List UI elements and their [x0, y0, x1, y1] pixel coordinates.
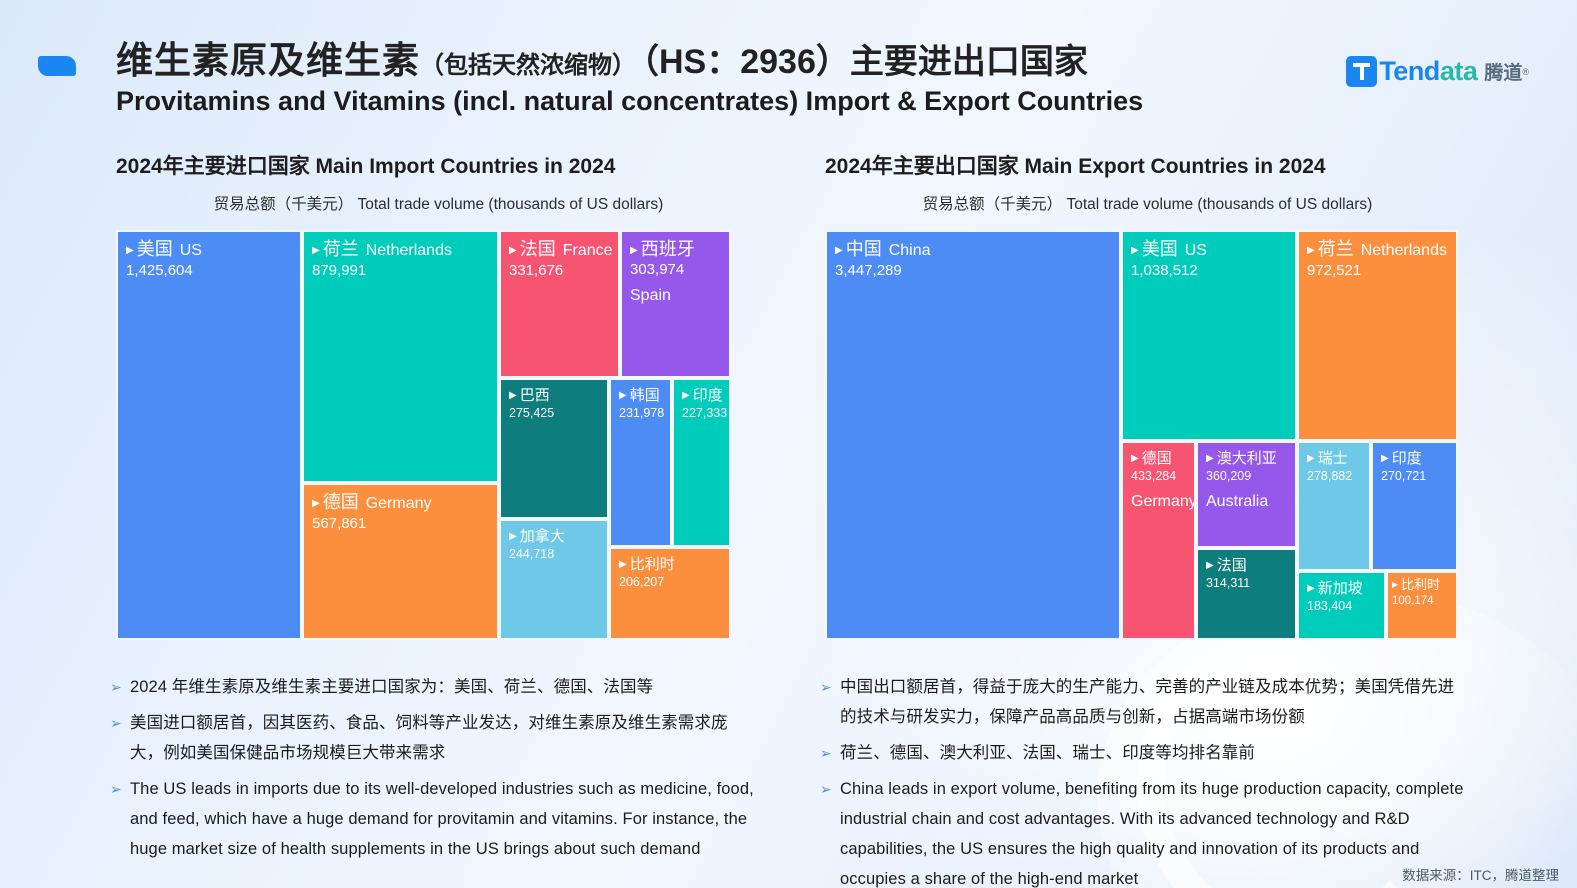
export-notes-list: ➢中国出口额居首，得益于庞大的生产能力、完善的产业链及成本优势；美国凭借先进的技…	[820, 672, 1470, 888]
tile-value: 1,425,604	[126, 263, 293, 280]
tile-value: 231,978	[619, 407, 663, 421]
caret-right-icon: ▶	[835, 246, 843, 257]
caret-right-icon: ▶	[630, 246, 638, 257]
tile-country-cn: 荷兰	[323, 240, 359, 259]
caret-right-icon: ▶	[1392, 581, 1398, 589]
tile-value: 244,718	[509, 548, 600, 562]
tile-value: 275,425	[509, 407, 600, 421]
tile-country-en: US	[180, 243, 202, 260]
caret-right-icon: ▶	[509, 246, 517, 257]
caret-right-icon: ▶	[509, 391, 517, 402]
bullet-arrow-icon: ➢	[110, 774, 130, 864]
tile-value: 314,311	[1206, 577, 1288, 591]
export-note-bullet-text: 荷兰、德国、澳大利亚、法国、瑞士、印度等均排名靠前	[840, 738, 1255, 768]
import-note-bullet-text: The US leads in imports due to its well-…	[130, 774, 760, 864]
tile-value: 331,676	[509, 263, 611, 280]
treemap-tile[interactable]: ▶澳大利亚360,209Australia	[1196, 441, 1297, 548]
import-panel-title: 2024年主要进口国家 Main Import Countries in 202…	[116, 150, 761, 180]
import-panel-subtitle: 贸易总额（千美元） Total trade volume (thousands …	[116, 192, 761, 214]
treemap-tile[interactable]: ▶比利时100,174	[1386, 571, 1458, 640]
treemap-tile[interactable]: ▶法国France331,676	[499, 230, 620, 378]
tile-value: 567,861	[312, 516, 490, 533]
caret-right-icon: ▶	[1206, 561, 1214, 572]
treemap-tile[interactable]: ▶荷兰Netherlands972,521	[1297, 230, 1458, 441]
import-note-bullet: ➢美国进口额居首，因其医药、食品、饲料等产业发达，对维生素原及维生素需求庞大，例…	[110, 708, 760, 768]
bullet-arrow-icon: ➢	[110, 672, 130, 702]
tile-country-cn: 法国	[1217, 558, 1247, 574]
treemap-tile[interactable]: ▶印度270,721	[1371, 441, 1458, 571]
bullet-arrow-icon: ➢	[820, 672, 840, 732]
export-note-bullet-text: 中国出口额居首，得益于庞大的生产能力、完善的产业链及成本优势；美国凭借先进的技术…	[840, 672, 1470, 732]
treemap-tile[interactable]: ▶法国314,311	[1196, 548, 1297, 640]
tile-value: 227,333	[682, 407, 722, 421]
tile-country-cn: 美国	[1142, 240, 1178, 259]
page-title: 维生素原及维生素（包括天然浓缩物）（HS：2936）主要进出口国家 Provit…	[116, 42, 1143, 117]
logo-text-primary: Tend	[1379, 56, 1440, 86]
treemap-tile[interactable]: ▶瑞士278,882	[1297, 441, 1371, 571]
treemap-tile[interactable]: ▶美国US1,038,512	[1121, 230, 1297, 441]
treemap-tile[interactable]: ▶新加坡183,404	[1297, 571, 1386, 640]
import-notes-list: ➢2024 年维生素原及维生素主要进口国家为：美国、荷兰、德国、法国等➢美国进口…	[110, 672, 760, 870]
tile-country-cn: 比利时	[630, 557, 675, 573]
page-header: 维生素原及维生素（包括天然浓缩物）（HS：2936）主要进出口国家 Provit…	[0, 0, 1577, 140]
import-note-bullet-text: 美国进口额居首，因其医药、食品、饲料等产业发达，对维生素原及维生素需求庞大，例如…	[130, 708, 760, 768]
tile-country-cn: 瑞士	[1318, 451, 1348, 467]
export-treemap: ▶中国China3,447,289▶美国US1,038,512▶荷兰Nether…	[825, 230, 1470, 640]
import-note-bullet-text: 2024 年维生素原及维生素主要进口国家为：美国、荷兰、德国、法国等	[130, 672, 653, 702]
tile-country-cn: 印度	[1392, 451, 1422, 467]
treemap-tile[interactable]: ▶印度227,333	[672, 378, 731, 547]
treemap-tile[interactable]: ▶韩国231,978	[609, 378, 672, 547]
caret-right-icon: ▶	[682, 391, 690, 402]
treemap-tile[interactable]: ▶巴西275,425	[499, 378, 609, 519]
caret-right-icon: ▶	[1131, 246, 1139, 257]
bullet-arrow-icon: ➢	[110, 708, 130, 768]
tile-value: 972,521	[1307, 263, 1449, 280]
tile-country-cn: 新加坡	[1318, 581, 1363, 597]
tile-value: 270,721	[1381, 470, 1449, 484]
export-panel: 2024年主要出口国家 Main Export Countries in 202…	[825, 150, 1470, 640]
tile-country-cn: 澳大利亚	[1217, 451, 1277, 467]
tile-country-cn: 巴西	[520, 388, 550, 404]
export-panel-subtitle: 贸易总额（千美元） Total trade volume (thousands …	[825, 192, 1470, 214]
tile-country-cn: 德国	[323, 493, 359, 512]
tile-value: 879,991	[312, 263, 490, 280]
export-note-bullet: ➢中国出口额居首，得益于庞大的生产能力、完善的产业链及成本优势；美国凭借先进的技…	[820, 672, 1470, 732]
import-treemap: ▶美国US1,425,604▶荷兰Netherlands879,991▶德国Ge…	[116, 230, 761, 640]
tile-country-en: China	[889, 243, 931, 260]
import-panel: 2024年主要进口国家 Main Import Countries in 202…	[116, 150, 761, 640]
treemap-tile[interactable]: ▶西班牙303,974Spain	[620, 230, 731, 378]
caret-right-icon: ▶	[312, 246, 320, 257]
tile-country-cn: 韩国	[630, 388, 660, 404]
header-mark-icon	[38, 56, 76, 76]
treemap-tile[interactable]: ▶德国Germany567,861	[302, 483, 499, 640]
treemap-tile[interactable]: ▶德国433,284Germany	[1121, 441, 1196, 640]
logo-registered-icon: ®	[1522, 67, 1529, 77]
caret-right-icon: ▶	[1307, 246, 1315, 257]
export-note-bullet: ➢China leads in export volume, benefitin…	[820, 774, 1470, 888]
treemap-tile[interactable]: ▶比利时206,207	[609, 547, 731, 640]
tile-country-cn: 荷兰	[1318, 240, 1354, 259]
tile-country-en: Netherlands	[1361, 243, 1447, 260]
tile-value: 360,209	[1206, 470, 1288, 484]
caret-right-icon: ▶	[619, 391, 627, 402]
tile-country-cn: 比利时	[1401, 578, 1440, 592]
tile-value: 3,447,289	[835, 263, 1112, 280]
source-note: 数据来源：ITC，腾道整理	[1402, 864, 1559, 884]
caret-right-icon: ▶	[1307, 454, 1315, 465]
tile-country-en: US	[1185, 243, 1207, 260]
tile-value: 183,404	[1307, 600, 1377, 614]
export-panel-title: 2024年主要出口国家 Main Export Countries in 202…	[825, 150, 1470, 180]
tile-country-cn: 法国	[520, 240, 556, 259]
treemap-tile[interactable]: ▶中国China3,447,289	[825, 230, 1121, 640]
tendata-mark-icon	[1346, 56, 1377, 87]
treemap-tile[interactable]: ▶荷兰Netherlands879,991	[302, 230, 499, 483]
tile-value: 1,038,512	[1131, 263, 1288, 280]
title-hs-code: （HS：2936）主要进出口国家	[642, 43, 1088, 81]
caret-right-icon: ▶	[1307, 584, 1315, 595]
treemap-tile[interactable]: ▶加拿大244,718	[499, 519, 609, 640]
tile-country-cn: 西班牙	[641, 240, 695, 259]
tile-country-en: Netherlands	[366, 243, 452, 260]
caret-right-icon: ▶	[1381, 454, 1389, 465]
logo-chinese-name: 腾道	[1484, 58, 1522, 85]
caret-right-icon: ▶	[619, 560, 627, 571]
tile-country-cn: 德国	[1142, 451, 1172, 467]
tile-country-en: Australia	[1206, 493, 1288, 511]
logo-text-secondary: ata	[1440, 56, 1478, 86]
tile-country-cn: 美国	[137, 240, 173, 259]
title-chinese-main: 维生素原及维生素	[116, 40, 420, 81]
export-note-bullet-text: China leads in export volume, benefiting…	[840, 774, 1470, 888]
import-note-bullet: ➢2024 年维生素原及维生素主要进口国家为：美国、荷兰、德国、法国等	[110, 672, 760, 702]
import-note-bullet: ➢The US leads in imports due to its well…	[110, 774, 760, 864]
title-chinese-paren: （包括天然浓缩物）	[420, 52, 636, 79]
tile-country-en: Spain	[630, 287, 722, 305]
title-english: Provitamins and Vitamins (incl. natural …	[116, 86, 1143, 117]
tile-country-cn: 印度	[693, 388, 723, 404]
caret-right-icon: ▶	[1131, 454, 1139, 465]
tile-value: 303,974	[630, 262, 722, 279]
caret-right-icon: ▶	[509, 532, 517, 543]
export-note-bullet: ➢荷兰、德国、澳大利亚、法国、瑞士、印度等均排名靠前	[820, 738, 1470, 768]
tile-value: 206,207	[619, 576, 722, 590]
tile-value: 100,174	[1392, 595, 1453, 608]
tile-country-en: Germany	[366, 496, 432, 513]
tile-value: 433,284	[1131, 470, 1187, 484]
treemap-tile[interactable]: ▶美国US1,425,604	[116, 230, 302, 640]
tile-country-en: Germany	[1131, 493, 1187, 511]
bullet-arrow-icon: ➢	[820, 738, 840, 768]
tendata-logo: Tendata 腾道 ®	[1346, 56, 1529, 87]
bullet-arrow-icon: ➢	[820, 774, 840, 888]
tile-country-cn: 加拿大	[520, 529, 565, 545]
caret-right-icon: ▶	[126, 246, 134, 257]
caret-right-icon: ▶	[312, 499, 320, 510]
tile-country-en: France	[563, 243, 613, 260]
tile-country-cn: 中国	[846, 240, 882, 259]
caret-right-icon: ▶	[1206, 454, 1214, 465]
tile-value: 278,882	[1307, 470, 1362, 484]
